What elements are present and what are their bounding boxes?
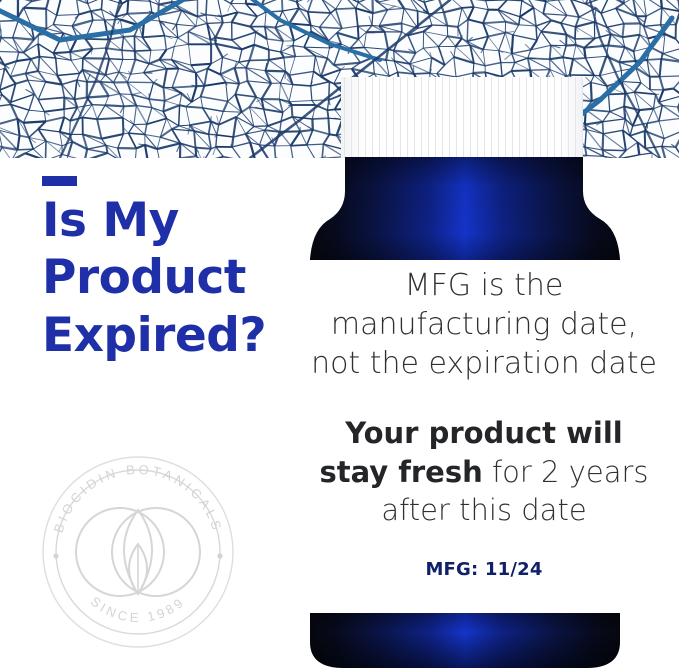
- seal-bottom-text: SINCE 1989: [88, 594, 189, 626]
- freshness-emphasis-2: stay fresh: [319, 455, 482, 489]
- mfg-definition-text: MFG is the manufacturing date, not the e…: [288, 266, 679, 383]
- svg-text:BIOCIDIN BOTANICALS: BIOCIDIN BOTANICALS: [51, 462, 226, 535]
- promo-graphic: Is My Product Expired? MFG is the manufa…: [0, 0, 679, 668]
- product-bottle-bottom: [300, 610, 630, 668]
- freshness-tail-2: for 2 years: [483, 455, 649, 489]
- copy-column: MFG is the manufacturing date, not the e…: [288, 266, 679, 580]
- mfg-date-label: MFG: 11/24: [288, 530, 679, 580]
- brand-seal-watermark: BIOCIDIN BOTANICALS SINCE 1989: [38, 452, 238, 652]
- product-bottle-top: [300, 70, 630, 260]
- freshness-text: Your product will stay fresh for 2 years…: [288, 383, 679, 530]
- freshness-tail-3: after this date: [381, 493, 586, 527]
- seal-top-text: BIOCIDIN BOTANICALS: [51, 462, 226, 535]
- headline-accent-dash: [42, 176, 77, 186]
- svg-text:SINCE 1989: SINCE 1989: [88, 594, 189, 626]
- bottle-shoulder: [300, 157, 630, 260]
- freshness-emphasis-1: Your product will: [345, 416, 622, 450]
- bottle-cap: [341, 77, 583, 158]
- cap-shading: [341, 77, 583, 158]
- headline-block: Is My Product Expired?: [42, 176, 266, 364]
- page-title: Is My Product Expired?: [42, 192, 266, 364]
